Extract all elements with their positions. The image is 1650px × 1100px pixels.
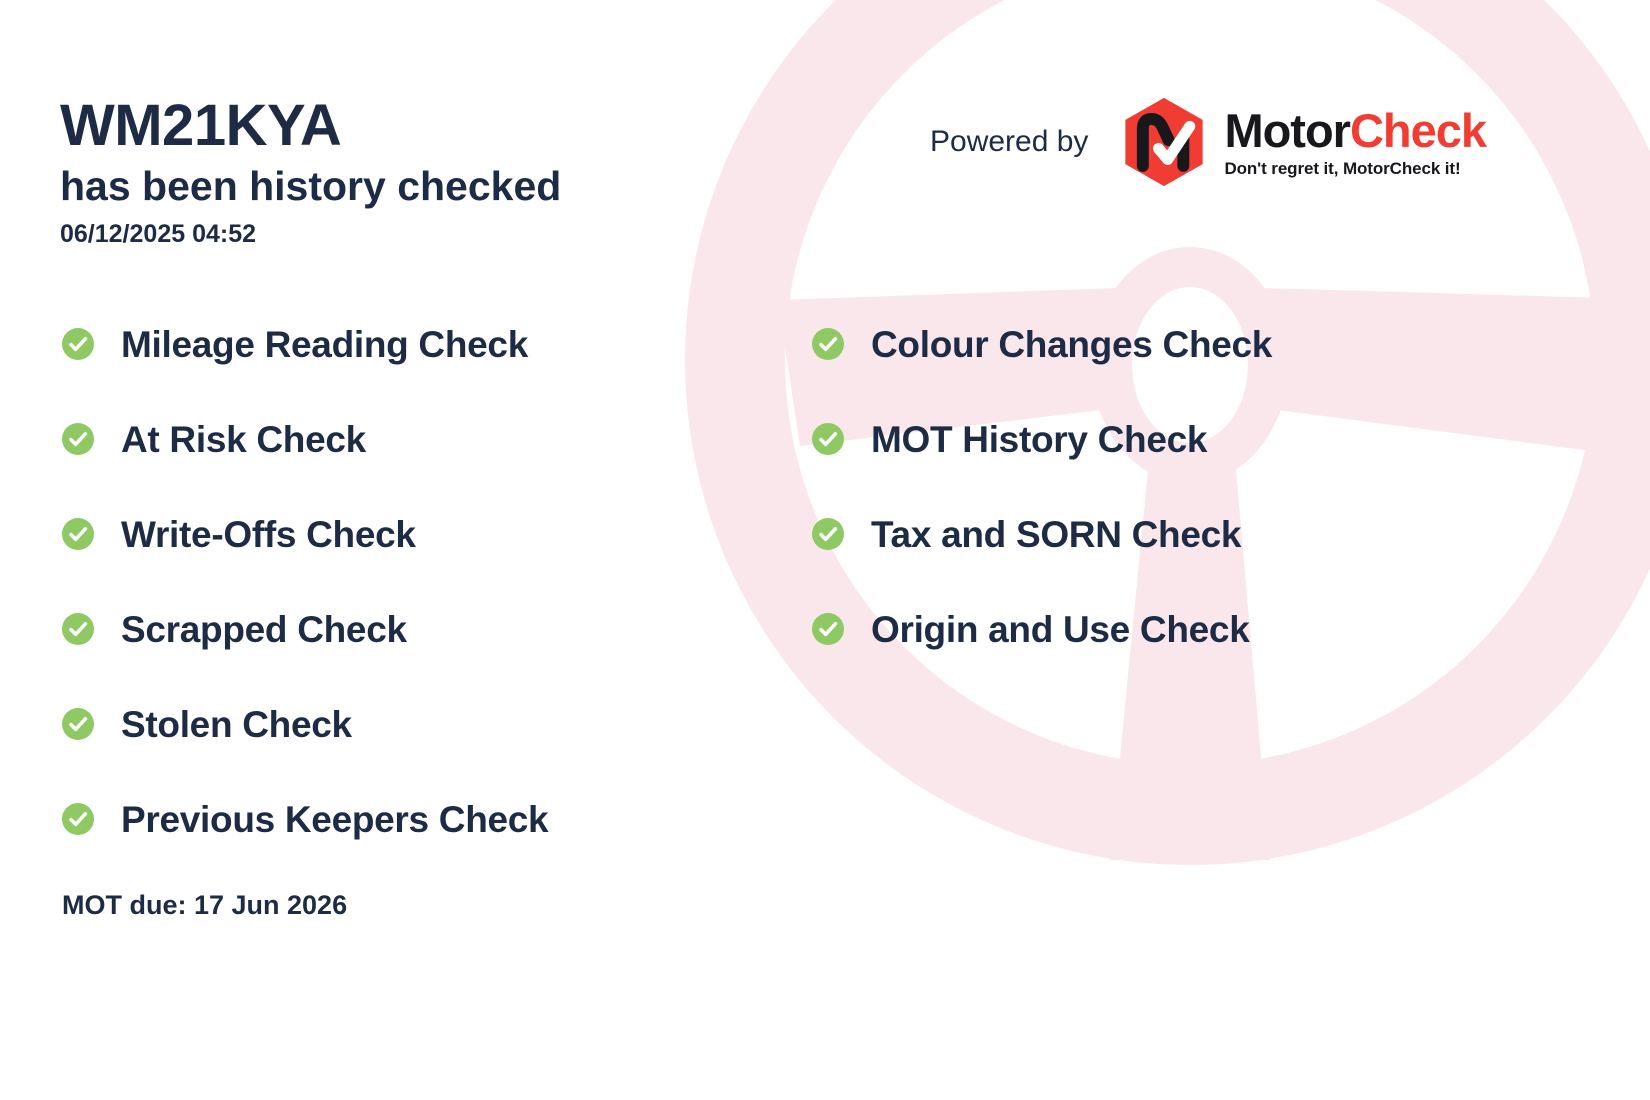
green-check-circle-icon <box>812 423 844 455</box>
check-label: Scrapped Check <box>121 611 407 648</box>
motorcheck-wordmark: MotorCheck Don't regret it, MotorCheck i… <box>1224 105 1486 179</box>
list-item: Write-Offs Check <box>62 508 548 560</box>
list-item: At Risk Check <box>62 413 548 465</box>
green-check-circle-icon <box>812 518 844 550</box>
check-timestamp: 06/12/2025 04:52 <box>60 220 561 249</box>
check-label: Tax and SORN Check <box>871 516 1241 553</box>
green-check-circle-icon <box>62 803 94 835</box>
green-check-circle-icon <box>62 518 94 550</box>
check-list-right: Colour Changes Check MOT History Check T… <box>812 318 1272 698</box>
check-label: Origin and Use Check <box>871 611 1250 648</box>
mot-due-date: MOT due: 17 Jun 2026 <box>62 890 347 921</box>
check-label: Mileage Reading Check <box>121 326 528 363</box>
check-label: Write-Offs Check <box>121 516 416 553</box>
green-check-circle-icon <box>62 708 94 740</box>
registration-plate: WM21KYA <box>60 96 561 157</box>
list-item: Tax and SORN Check <box>812 508 1272 560</box>
green-check-circle-icon <box>62 613 94 645</box>
list-item: Scrapped Check <box>62 603 548 655</box>
green-check-circle-icon <box>812 613 844 645</box>
list-item: MOT History Check <box>812 413 1272 465</box>
green-check-circle-icon <box>62 328 94 360</box>
check-label: At Risk Check <box>121 421 366 458</box>
history-check-card: WM21KYA has been history checked 06/12/2… <box>0 0 1650 1100</box>
logo-name-primary: Motor <box>1224 104 1350 157</box>
logo-name: MotorCheck <box>1224 107 1486 154</box>
check-label: Previous Keepers Check <box>121 801 548 838</box>
page-title: has been history checked <box>60 161 561 212</box>
powered-by-motorcheck: Powered by MotorCheck Don't regret it, M… <box>930 96 1486 188</box>
logo-tagline: Don't regret it, MotorCheck it! <box>1224 159 1486 179</box>
list-item: Origin and Use Check <box>812 603 1272 655</box>
motorcheck-hexagon-m-icon <box>1118 96 1210 188</box>
check-label: Stolen Check <box>121 706 352 743</box>
green-check-circle-icon <box>812 328 844 360</box>
list-item: Stolen Check <box>62 698 548 750</box>
card-header: WM21KYA has been history checked 06/12/2… <box>60 96 561 249</box>
logo-name-secondary: Check <box>1350 104 1486 157</box>
list-item: Colour Changes Check <box>812 318 1272 370</box>
powered-by-label: Powered by <box>930 125 1088 159</box>
check-label: MOT History Check <box>871 421 1207 458</box>
check-list-left: Mileage Reading Check At Risk Check Writ… <box>62 318 548 888</box>
check-label: Colour Changes Check <box>871 326 1272 363</box>
green-check-circle-icon <box>62 423 94 455</box>
list-item: Previous Keepers Check <box>62 793 548 845</box>
list-item: Mileage Reading Check <box>62 318 548 370</box>
